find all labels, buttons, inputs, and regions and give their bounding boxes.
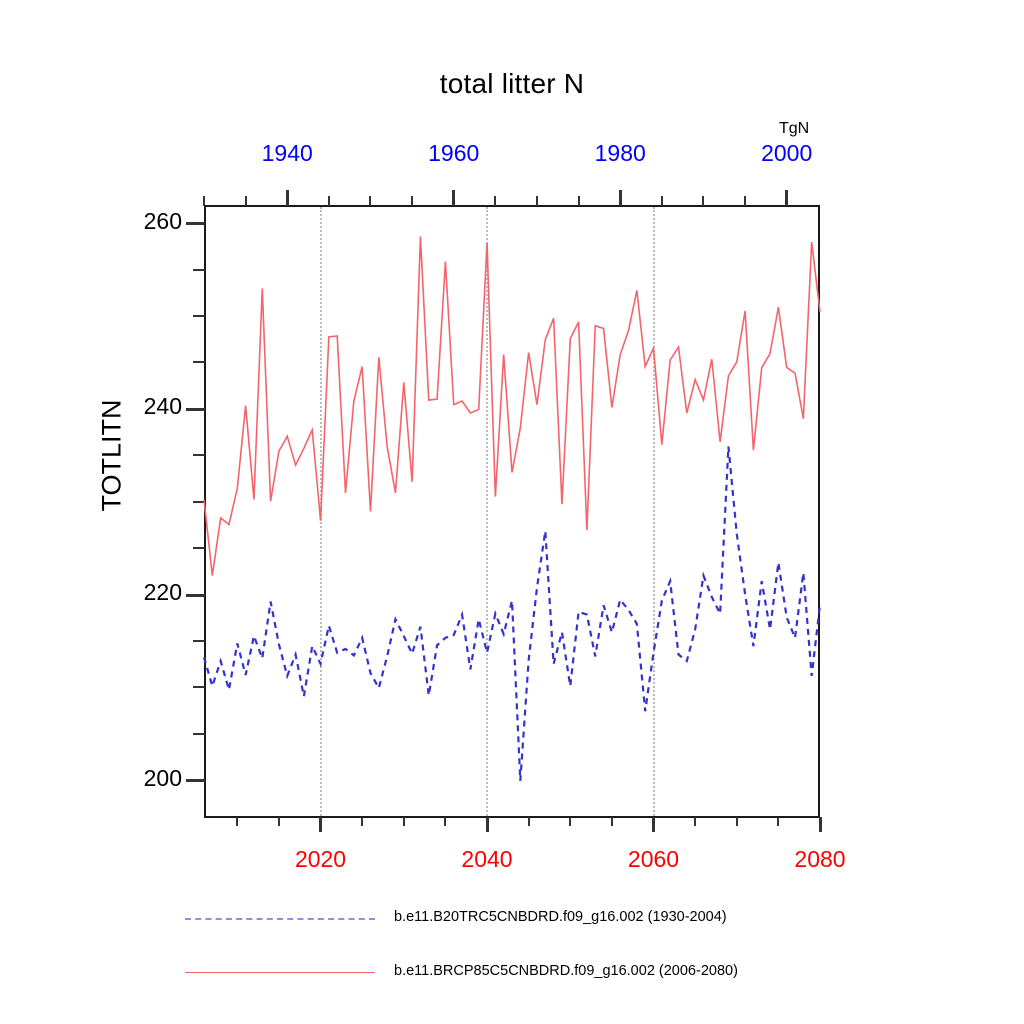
top-tick-1980 — [619, 190, 622, 206]
left-tick-255 — [193, 269, 205, 271]
top-tick-2000 — [785, 190, 788, 206]
top-tick-1940 — [286, 190, 289, 206]
bottom-tick-2025 — [361, 817, 363, 826]
bottom-tick-2015 — [278, 817, 280, 826]
left-tick-200 — [186, 779, 205, 782]
top-tick-1975 — [578, 196, 580, 206]
left-tick-230 — [193, 501, 205, 503]
top-tick-1960 — [452, 190, 455, 206]
left-tick-label-200: 200 — [110, 765, 182, 792]
bottom-tick-2060 — [652, 817, 655, 832]
top-tick-1995 — [744, 196, 746, 206]
bottom-tick-2020 — [319, 817, 322, 832]
left-tick-label-220: 220 — [110, 579, 182, 606]
gridline-2040 — [486, 207, 488, 816]
left-tick-240 — [186, 408, 205, 411]
top-tick-label-1940: 1940 — [249, 140, 325, 167]
bottom-tick-2065 — [694, 817, 696, 826]
legend-label-0: b.e11.B20TRC5CNBDRD.f09_g16.002 (1930-20… — [394, 909, 727, 925]
bottom-tick-2075 — [777, 817, 779, 826]
plot-area — [204, 205, 820, 818]
bottom-tick-2030 — [403, 817, 405, 826]
top-tick-1965 — [494, 196, 496, 206]
top-tick-1955 — [411, 196, 413, 206]
bottom-tick-label-2040: 2040 — [449, 846, 525, 873]
top-tick-1950 — [369, 196, 371, 206]
bottom-tick-label-2020: 2020 — [283, 846, 359, 873]
left-tick-250 — [193, 315, 205, 317]
left-tick-225 — [193, 547, 205, 549]
top-tick-label-2000: 2000 — [749, 140, 825, 167]
gridline-2060 — [653, 207, 655, 816]
left-tick-235 — [193, 454, 205, 456]
y-axis-label: TOTLITN — [97, 336, 128, 576]
top-tick-1930 — [203, 196, 205, 206]
left-tick-label-260: 260 — [110, 208, 182, 235]
bottom-tick-2070 — [736, 817, 738, 826]
left-tick-210 — [193, 686, 205, 688]
legend-label-1: b.e11.BRCP85C5CNBDRD.f09_g16.002 (2006-2… — [394, 963, 738, 979]
bottom-tick-2080 — [819, 817, 822, 832]
top-tick-label-1980: 1980 — [582, 140, 658, 167]
bottom-tick-2010 — [236, 817, 238, 826]
legend-line-1 — [185, 972, 375, 973]
bottom-tick-label-2080: 2080 — [782, 846, 858, 873]
top-tick-1990 — [702, 196, 704, 206]
bottom-tick-2040 — [486, 817, 489, 832]
top-tick-1985 — [661, 196, 663, 206]
bottom-tick-2050 — [569, 817, 571, 826]
left-tick-label-240: 240 — [110, 393, 182, 420]
left-tick-215 — [193, 640, 205, 642]
bottom-tick-2045 — [528, 817, 530, 826]
bottom-tick-label-2060: 2060 — [616, 846, 692, 873]
top-tick-label-1960: 1960 — [416, 140, 492, 167]
top-tick-1970 — [536, 196, 538, 206]
bottom-tick-2055 — [611, 817, 613, 826]
legend-line-0 — [185, 918, 375, 920]
gridline-2020 — [320, 207, 322, 816]
left-tick-245 — [193, 361, 205, 363]
top-tick-1945 — [328, 196, 330, 206]
left-tick-260 — [186, 222, 205, 225]
top-tick-1935 — [245, 196, 247, 206]
left-tick-205 — [193, 733, 205, 735]
unit-label: TgN — [779, 120, 809, 138]
left-tick-220 — [186, 594, 205, 597]
bottom-tick-2035 — [444, 817, 446, 826]
chart-title: total litter N — [0, 68, 1024, 100]
chart-page: total litter N TgN TOTLITN 2020204020602… — [0, 0, 1024, 1024]
